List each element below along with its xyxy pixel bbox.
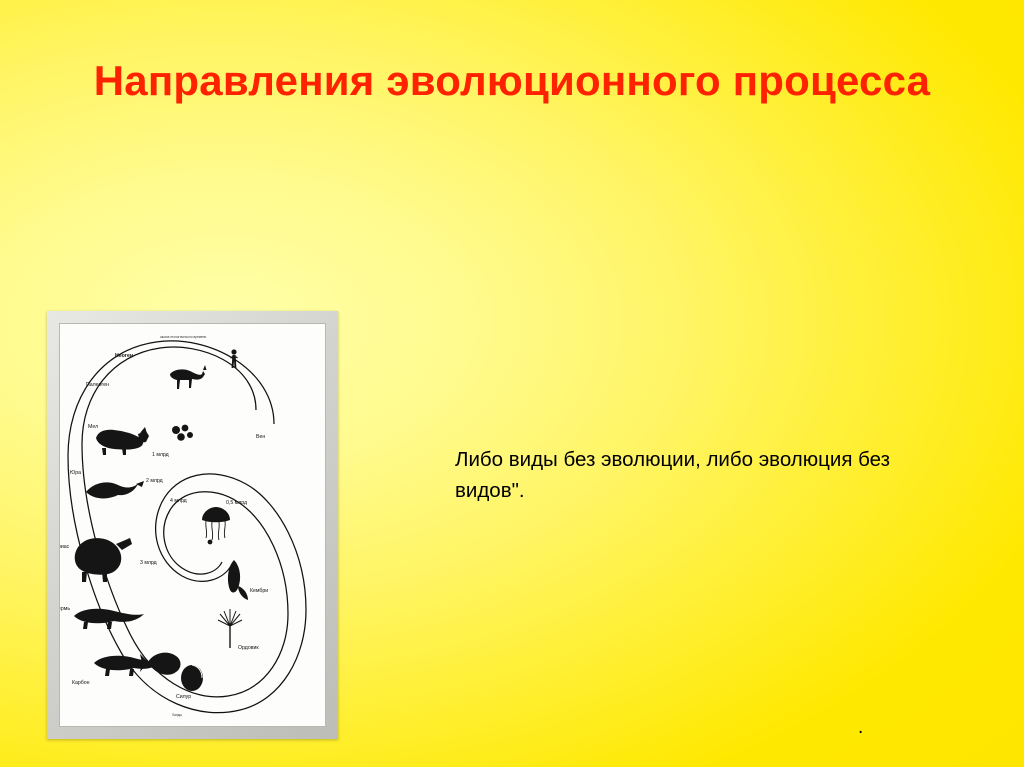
time-label-4mlrd: 4 млрд [170,498,187,504]
slide-canvas: Направления эволюционного процесса шкала… [0,0,1024,767]
time-label-1mlrd: 1 млрд [152,452,169,458]
body-paragraph: Либо виды без эволюции, либо эволюция бе… [455,444,955,506]
geological-time-spiral-illustration: шкала геологического времени Неоген Пале… [60,324,325,726]
period-label-trias: риас [60,544,70,550]
period-label-perm: ермь [60,606,70,612]
period-label-paleogen: Палеоген [86,382,109,388]
figure-label-bottom: Ландш [172,713,182,717]
page-title: Направления эволюционного процесса [60,52,964,110]
time-label-05mlrd: 0,5 млрд [226,500,247,506]
period-label-kembriy: Кембри [250,588,268,594]
trailing-dot: . [858,718,863,737]
period-label-mel: Мел [88,424,98,430]
period-label-karbon: Карбон [72,680,90,686]
period-label-ordovik: Ордовик [238,645,259,651]
figure-caption-top: шкала геологического времени [160,335,206,339]
period-label-yura: Юра [70,470,81,476]
period-label-silur: Силур [176,694,191,700]
period-label-neogen: Неоген [115,353,133,359]
time-label-2mlrd: 2 млрд [146,478,163,484]
figure-canvas: шкала геологического времени Неоген Пале… [59,323,326,727]
organism-silhouettes [74,349,248,691]
time-label-3mlrd: 3 млрд [140,560,157,566]
period-label-ven: Вен [256,434,265,440]
figure-frame: шкала геологического времени Неоген Пале… [47,311,338,739]
